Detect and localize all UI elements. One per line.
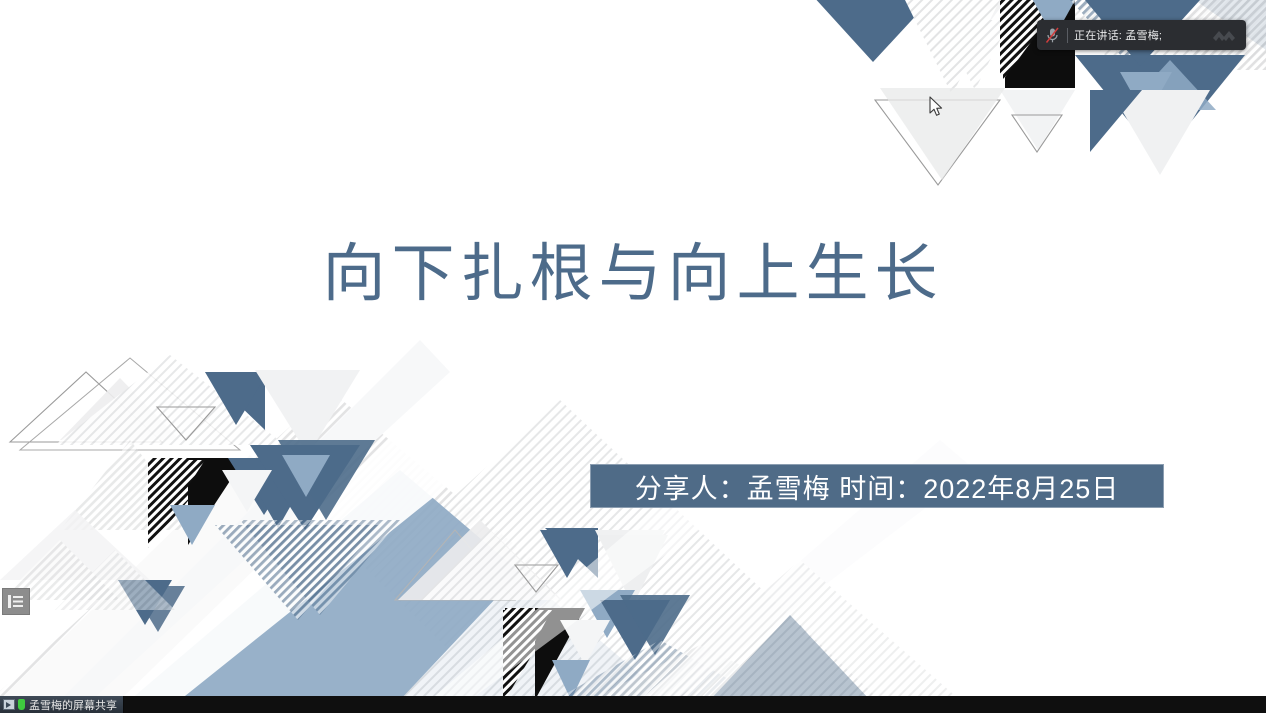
arrow-cursor-icon [929,96,943,122]
speaking-notification[interactable]: 正在讲话: 孟雪梅; [1037,20,1246,50]
slide-subtitle-band: 分享人：孟雪梅 时间：2022年8月25日 [590,464,1164,508]
decorative-triangle-artwork [0,0,1266,700]
taskbar: 孟雪梅的屏幕共享 [0,696,1266,713]
green-indicator-icon [18,699,25,710]
screen-share-view: 向下扎根与向上生长 分享人：孟雪梅 时间：2022年8月25日 正 [0,0,1266,713]
mic-muted-icon [1037,27,1067,44]
double-chevron-icon[interactable] [1211,28,1237,42]
speaking-notification-text: 正在讲话: 孟雪梅; [1074,27,1162,43]
taskbar-item-screen-share[interactable]: 孟雪梅的屏幕共享 [0,696,124,713]
slide-list-menu-button[interactable] [2,588,30,615]
screen-share-icon [3,699,15,710]
list-menu-icon [8,594,24,609]
taskbar-item-label: 孟雪梅的屏幕共享 [29,697,117,713]
slide-title: 向下扎根与向上生长 [0,238,1266,310]
slide-subtitle-text: 分享人：孟雪梅 时间：2022年8月25日 [635,467,1120,506]
presentation-slide: 向下扎根与向上生长 分享人：孟雪梅 时间：2022年8月25日 [0,0,1266,700]
notification-divider [1067,28,1068,43]
